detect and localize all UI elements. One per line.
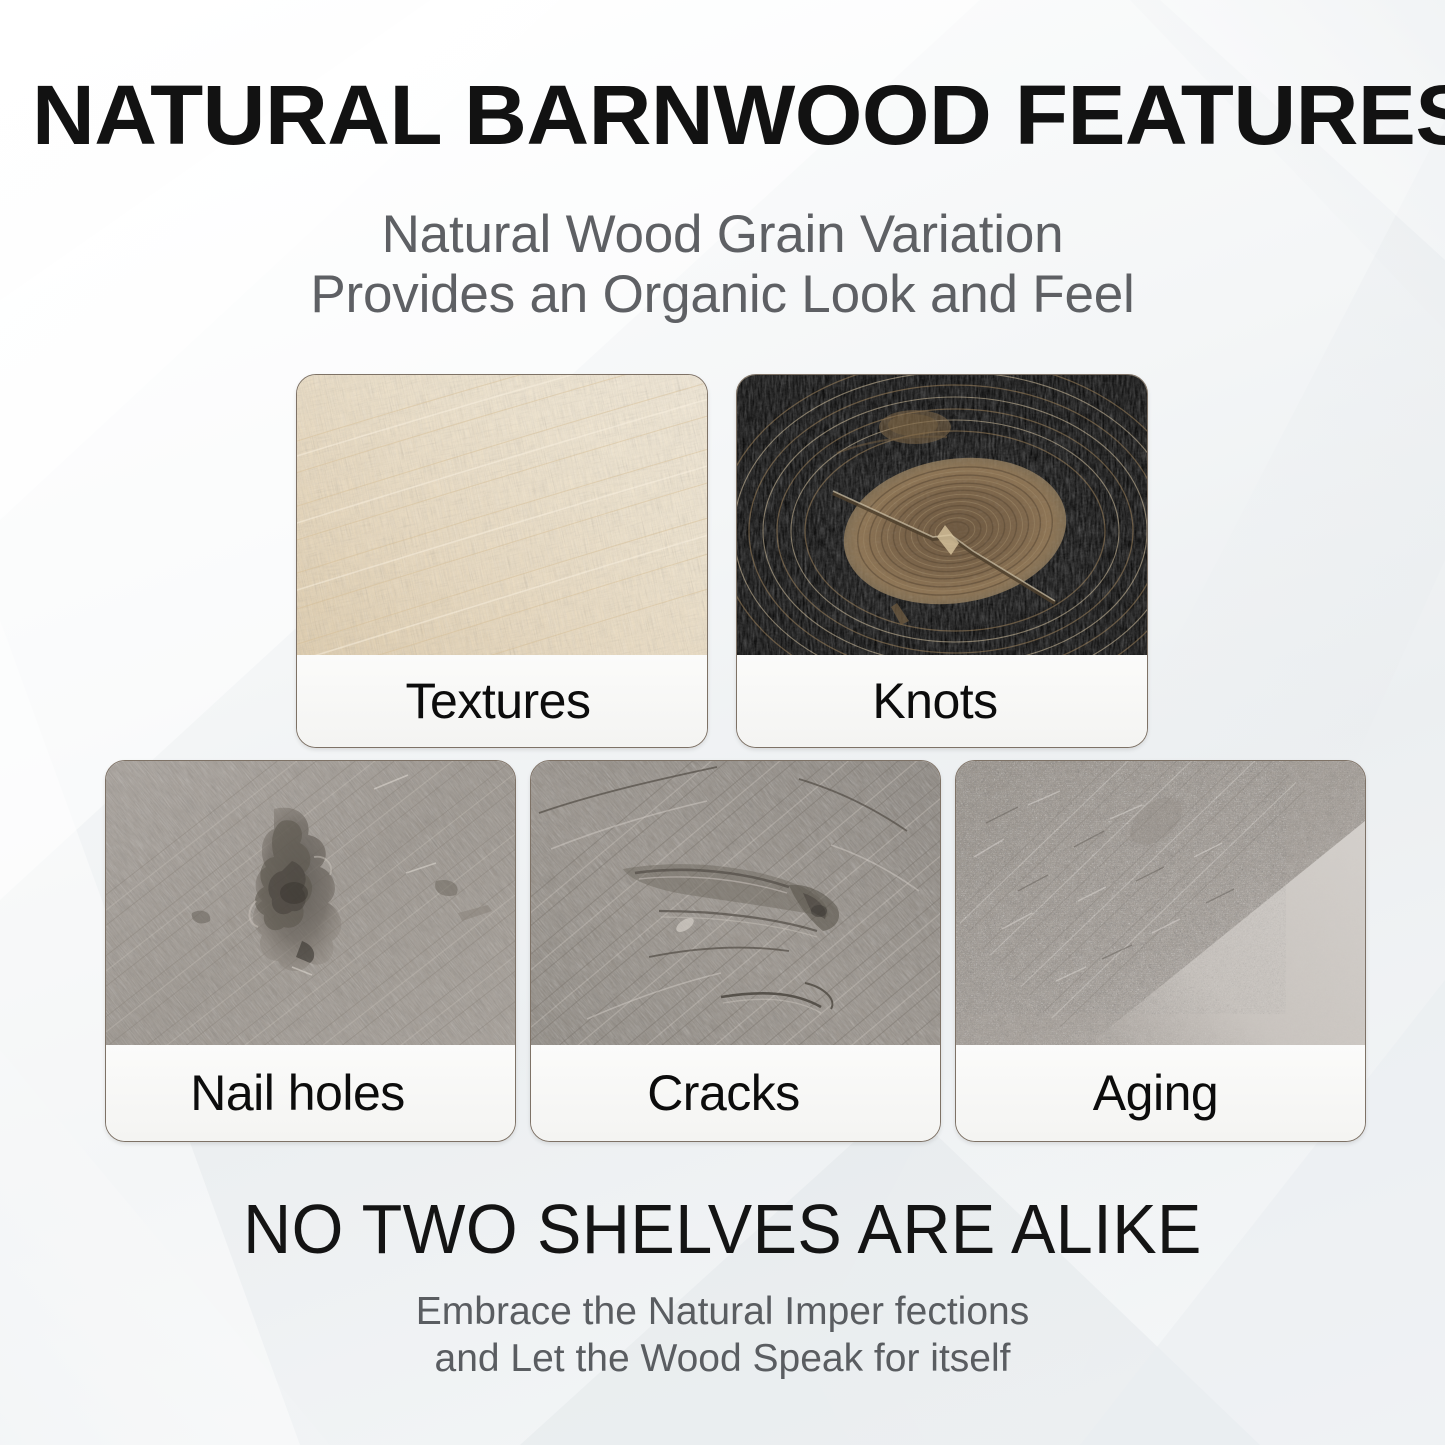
subtitle-line-1: Natural Wood Grain Variation — [0, 205, 1445, 265]
nail-holes-photo — [106, 761, 515, 1045]
aging-photo — [956, 761, 1365, 1045]
light-cream-wood-grain-image — [297, 375, 707, 655]
grey-fibrous-aged-wood-image — [956, 761, 1365, 1045]
textures-photo — [297, 375, 707, 655]
feature-card-textures[interactable]: Textures — [296, 374, 708, 748]
footer-subtext: Embrace the Natural Imper fections and L… — [0, 1288, 1445, 1382]
grey-weathered-wood-gouge-image — [106, 761, 515, 1045]
card-label-knots: Knots — [737, 655, 1147, 747]
knots-photo — [737, 375, 1147, 655]
card-label-textures: Textures — [297, 655, 707, 747]
card-label-cracks: Cracks — [531, 1045, 940, 1141]
card-label-aging: Aging — [956, 1045, 1365, 1141]
footer-sub-line-1: Embrace the Natural Imper fections — [0, 1288, 1445, 1335]
tan-wood-with-knot-image — [737, 375, 1147, 655]
footer-headline: NO TWO SHELVES ARE ALIKE — [36, 1192, 1409, 1266]
card-label-nail-holes: Nail holes — [106, 1045, 515, 1141]
feature-card-nail-holes[interactable]: Nail holes — [105, 760, 516, 1142]
page-subtitle: Natural Wood Grain Variation Provides an… — [0, 205, 1445, 325]
grey-wood-with-cracks-image — [531, 761, 940, 1045]
feature-card-aging[interactable]: Aging — [955, 760, 1366, 1142]
page-title: NATURAL BARNWOOD FEATURES — [32, 72, 1445, 158]
infographic-page: NATURAL BARNWOOD FEATURES Natural Wood G… — [0, 0, 1445, 1445]
footer-sub-line-2: and Let the Wood Speak for itself — [0, 1335, 1445, 1382]
feature-card-cracks[interactable]: Cracks — [530, 760, 941, 1142]
cracks-photo — [531, 761, 940, 1045]
subtitle-line-2: Provides an Organic Look and Feel — [0, 265, 1445, 325]
feature-card-knots[interactable]: Knots — [736, 374, 1148, 748]
